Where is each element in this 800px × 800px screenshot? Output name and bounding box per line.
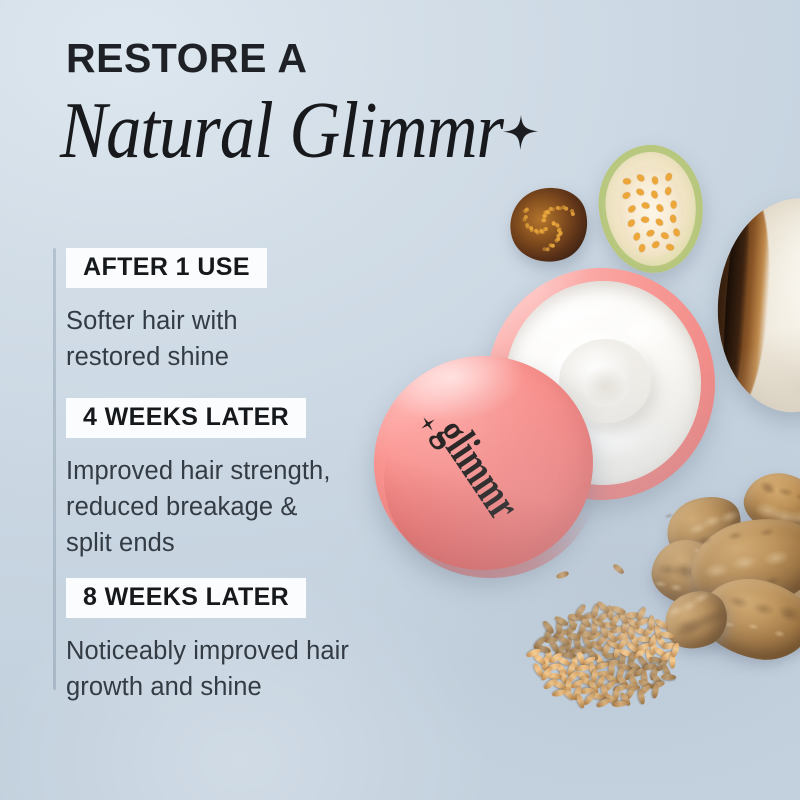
stray-seed bbox=[555, 570, 569, 580]
ginger-texture bbox=[747, 622, 760, 631]
ginger-texture bbox=[758, 526, 775, 537]
ginger-texture bbox=[776, 485, 795, 498]
stray-seed bbox=[612, 563, 626, 576]
flax-seed bbox=[651, 684, 659, 700]
ginger-texture bbox=[773, 629, 786, 638]
ginger-texture bbox=[726, 593, 751, 610]
guava-half-image bbox=[593, 140, 710, 278]
flax-seed bbox=[551, 689, 567, 699]
ginger-texture bbox=[691, 589, 713, 606]
ginger-texture bbox=[670, 583, 684, 592]
ginger-texture bbox=[761, 549, 790, 568]
brand-logotype: glimmr bbox=[428, 411, 528, 528]
ginger-texture bbox=[752, 600, 777, 617]
fig-seed bbox=[550, 207, 555, 212]
flax-seed bbox=[660, 674, 675, 681]
fig-seed bbox=[546, 210, 551, 215]
ginger-texture bbox=[653, 580, 667, 589]
flax-seed-pile bbox=[520, 594, 690, 718]
dried-fig-image bbox=[501, 179, 596, 272]
fig-seed bbox=[543, 227, 548, 232]
fig-seed bbox=[557, 206, 562, 211]
timeline-block-4-weeks: 4 WEEKS LATER Improved hair strength, re… bbox=[66, 398, 331, 562]
ginger-texture bbox=[793, 491, 800, 504]
fig-seed bbox=[525, 206, 530, 211]
timeline-vertical-rule bbox=[53, 248, 56, 690]
ginger-texture bbox=[730, 553, 759, 572]
sparkle-star-icon bbox=[500, 113, 540, 153]
page-title-kicker: RESTORE A bbox=[66, 38, 307, 79]
guava-skin bbox=[593, 140, 710, 278]
timeline-body: Improved hair strength, reduced breakage… bbox=[66, 453, 331, 562]
fig-seed bbox=[571, 212, 576, 217]
flax-seed bbox=[612, 700, 628, 708]
page-title-script: Natural Glimmr bbox=[60, 90, 570, 171]
ginger-texture bbox=[701, 512, 725, 529]
timeline-block-8-weeks: 8 WEEKS LATER Noticeably improved hair g… bbox=[66, 578, 349, 705]
timeline-body: Noticeably improved hair growth and shin… bbox=[66, 633, 349, 705]
coconut-half-image bbox=[711, 193, 800, 417]
timeline-body: Softer hair with restored shine bbox=[66, 303, 267, 375]
timeline-tag: 8 WEEKS LATER bbox=[66, 578, 306, 618]
fig-seed bbox=[554, 238, 559, 243]
fig-seed bbox=[542, 218, 547, 223]
fig-seed bbox=[563, 207, 568, 212]
ginger-texture bbox=[727, 530, 744, 541]
timeline-tag: 4 WEEKS LATER bbox=[66, 398, 306, 438]
ad-creative-canvas: glimmr RESTORE A Natural Glimmr AFTER 1 … bbox=[0, 0, 800, 800]
ginger-texture bbox=[702, 561, 731, 580]
timeline-tag: AFTER 1 USE bbox=[66, 248, 267, 288]
timeline-block-after-1-use: AFTER 1 USE Softer hair with restored sh… bbox=[66, 248, 267, 375]
